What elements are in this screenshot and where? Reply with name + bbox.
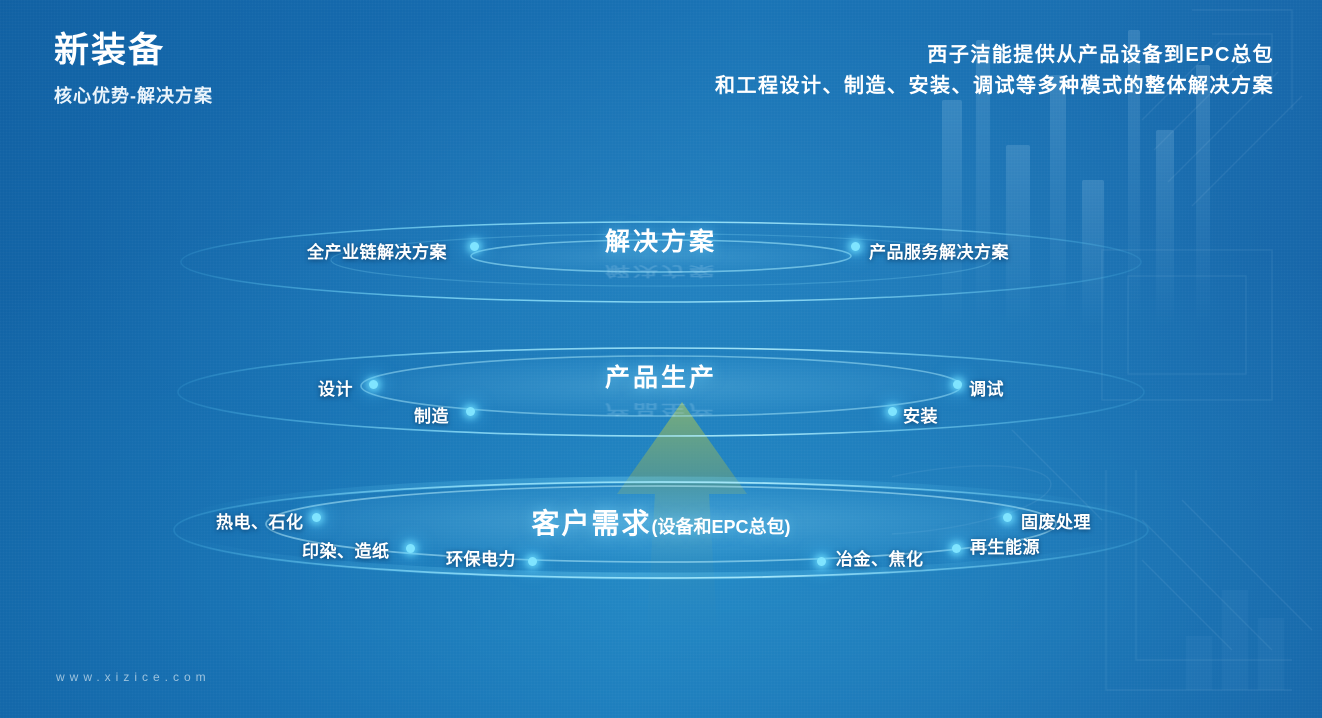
tier-customer-demand-title: 客户需求(设备和EPC总包) [0, 502, 1322, 542]
node-dot-yejin-jiaohua [817, 557, 826, 566]
node-dot-quanchanyelian [470, 242, 479, 251]
header-left: 新装备 核心优势-解决方案 [54, 32, 213, 108]
node-label-yejin-jiaohua: 冶金、焦化 [836, 545, 924, 570]
node-label-tiaoshi: 调试 [969, 375, 1004, 400]
node-label-zhizao: 制造 [414, 402, 449, 427]
tier-production-reflection: 产品生产 [0, 400, 1322, 420]
tier-solutions-title-text: 解决方案 [605, 228, 717, 256]
tier-production-title: 产品生产 [0, 358, 1322, 394]
node-label-redian-shihua: 热电、石化 [216, 508, 304, 533]
tier-solutions-title: 解决方案 [0, 222, 1322, 258]
node-dot-sheji [369, 380, 378, 389]
node-label-zaisheng-nengyuan: 再生能源 [970, 533, 1040, 558]
node-label-huanbao-dianli: 环保电力 [446, 545, 516, 570]
node-label-sheji: 设计 [318, 375, 353, 400]
tier-customer-demand: 客户需求(设备和EPC总包) 热电、石化 印染、造纸 环保电力 冶金、焦化 再生… [0, 470, 1322, 610]
page-subtitle: 核心优势-解决方案 [54, 82, 213, 108]
header-right: 西子洁能提供从产品设备到EPC总包 和工程设计、制造、安装、调试等多种模式的整体… [715, 40, 1274, 102]
tier-production: 产品生产 产品生产 设计 制造 安装 调试 [0, 330, 1322, 470]
tier-production-title-text: 产品生产 [605, 364, 717, 392]
page-title: 新装备 [54, 32, 213, 71]
tier-solutions-reflection: 解决方案 [0, 262, 1322, 282]
footer-url: www.xizice.com [56, 670, 211, 684]
tier-customer-demand-title-text: 客户需求 [531, 508, 651, 539]
node-dot-tiaoshi [953, 380, 962, 389]
node-dot-guhei-chuli [1003, 513, 1012, 522]
node-dot-zhizao [466, 407, 475, 416]
node-label-anzhuang: 安装 [903, 402, 938, 427]
node-label-yinran-zaozhi: 印染、造纸 [302, 537, 390, 562]
node-dot-zaisheng-nengyuan [952, 544, 961, 553]
tier-solutions: 解决方案 解决方案 全产业链解决方案 产品服务解决方案 [0, 190, 1322, 330]
node-dot-chanpinfuwu [851, 242, 860, 251]
node-label-quanchanyelian: 全产业链解决方案 [307, 238, 447, 263]
node-dot-huanbao-dianli [528, 557, 537, 566]
node-label-chanpinfuwu: 产品服务解决方案 [869, 238, 1009, 263]
header-tagline-line2: 和工程设计、制造、安装、调试等多种模式的整体解决方案 [715, 71, 1274, 102]
node-dot-redian-shihua [312, 513, 321, 522]
node-dot-anzhuang [888, 407, 897, 416]
slide-canvas: 新装备 核心优势-解决方案 西子洁能提供从产品设备到EPC总包 和工程设计、制造… [0, 0, 1322, 718]
tier-solutions-rings [0, 190, 1322, 330]
node-label-guhei-chuli: 固废处理 [1021, 508, 1091, 533]
header-tagline-line1: 西子洁能提供从产品设备到EPC总包 [715, 40, 1274, 71]
tier-customer-demand-note: (设备和EPC总包) [652, 517, 791, 537]
node-dot-yinran-zaozhi [406, 544, 415, 553]
